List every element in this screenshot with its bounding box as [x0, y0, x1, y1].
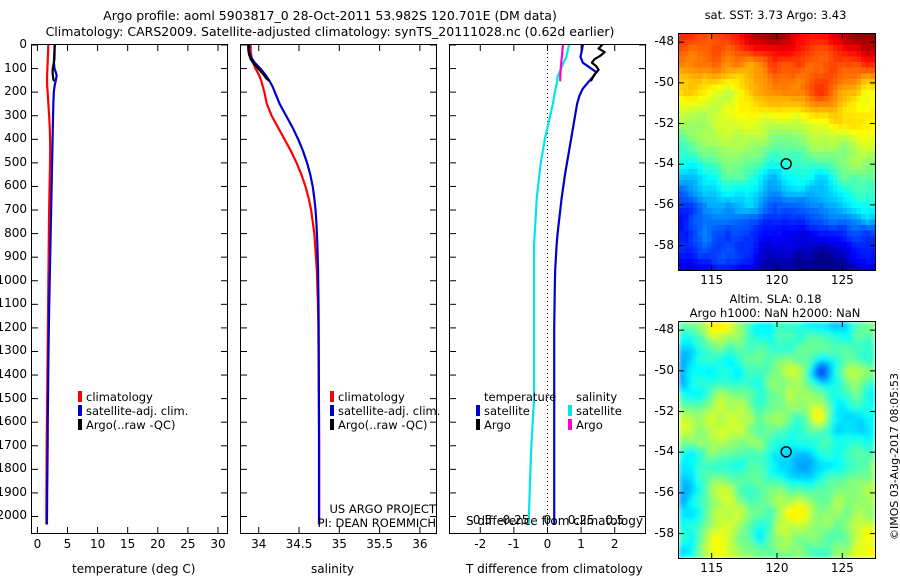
legend-item-s-satellite: satellite	[568, 404, 622, 418]
sla-map-panel[interactable]	[678, 321, 876, 559]
project-credit: US ARGO PROJECT PI: DEAN ROEMMICH	[246, 502, 436, 530]
legend-swatch-s-argo	[568, 419, 572, 430]
axis-tick-label: 115	[700, 561, 723, 575]
axis-tick-label: -48	[654, 322, 674, 336]
salinity-legend: climatology satellite-adj. clim. Argo(..…	[330, 390, 440, 432]
legend-label-s-satellite: satellite	[576, 404, 622, 418]
legend-swatch-t-satellite	[476, 405, 480, 416]
axis-tick-label: -0.5	[469, 513, 492, 527]
axis-tick-label: 0.5	[605, 513, 624, 527]
legend-item-s-argo: Argo	[568, 418, 622, 432]
legend-item-climatology: climatology	[78, 390, 188, 404]
sst-map-panel[interactable]	[678, 33, 876, 271]
axis-tick-label: -58	[654, 526, 674, 540]
axis-tick-label: -54	[654, 156, 674, 170]
axis-tick-label: -2	[474, 537, 486, 551]
legend-label-t-satellite: satellite	[484, 404, 530, 418]
legend-item-argo: Argo(..raw -QC)	[78, 418, 188, 432]
axis-tick-label: 1300	[0, 343, 27, 357]
axis-tick-label: 400	[4, 131, 27, 145]
axis-tick-label: 15	[120, 537, 135, 551]
axis-tick-label: 120	[766, 273, 789, 287]
axis-tick-label: 2	[611, 537, 619, 551]
axis-tick-label: -52	[654, 404, 674, 418]
axis-tick-label: 1200	[0, 320, 27, 334]
legend-swatch-climatology-salinity	[330, 391, 334, 402]
axis-tick-label: 34	[251, 537, 266, 551]
axis-tick-label: 1	[577, 537, 585, 551]
difference-legend-temperature: temperature satellite Argo	[476, 390, 556, 432]
axis-tick-label: 34.5	[286, 537, 313, 551]
axis-tick-label: 700	[4, 202, 27, 216]
axis-tick-label: 20	[150, 537, 165, 551]
sst-map-title: sat. SST: 3.73 Argo: 3.43	[668, 8, 883, 22]
legend-label-climatology: climatology	[86, 390, 153, 404]
temperature-legend: climatology satellite-adj. clim. Argo(..…	[78, 390, 188, 432]
legend-heading-temperature: temperature	[484, 390, 556, 404]
axis-tick-label: 36	[412, 537, 427, 551]
legend-item-t-satellite: satellite	[476, 404, 556, 418]
axis-tick-label: 0	[34, 537, 42, 551]
legend-item-satellite-adj-salinity: satellite-adj. clim.	[330, 404, 440, 418]
project-credit-line-1: US ARGO PROJECT	[246, 502, 436, 516]
axis-tick-label: 1000	[0, 273, 27, 287]
sla-map-image[interactable]	[679, 322, 875, 558]
axis-tick-label: 5	[64, 537, 72, 551]
legend-item-t-argo: Argo	[476, 418, 556, 432]
legend-item-climatology-salinity: climatology	[330, 390, 440, 404]
axis-tick-label: 115	[700, 273, 723, 287]
legend-label-s-argo: Argo	[576, 418, 603, 432]
axis-tick-label: 1700	[0, 438, 27, 452]
axis-tick-label: 800	[4, 226, 27, 240]
legend-label-satellite-adj-salinity: satellite-adj. clim.	[338, 404, 440, 418]
axis-tick-label: -58	[654, 238, 674, 252]
axis-tick-label: 1900	[0, 485, 27, 499]
axis-tick-label: 0.25	[568, 513, 595, 527]
axis-tick-label: -56	[654, 197, 674, 211]
legend-swatch-argo	[78, 419, 82, 430]
legend-item-argo-salinity: Argo(..raw -QC)	[330, 418, 440, 432]
axis-tick-label: 1800	[0, 461, 27, 475]
axis-tick-label: 900	[4, 249, 27, 263]
axis-tick-label: -54	[654, 444, 674, 458]
legend-swatch-s-satellite	[568, 405, 572, 416]
axis-tick-label: 0	[19, 37, 27, 51]
axis-tick-label: 125	[831, 561, 854, 575]
legend-label-satellite-adj: satellite-adj. clim.	[86, 404, 188, 418]
legend-swatch-satellite-adj-salinity	[330, 405, 334, 416]
axis-tick-label: 1400	[0, 367, 27, 381]
axis-tick-label: 1500	[0, 391, 27, 405]
axis-tick-label: -52	[654, 116, 674, 130]
sla-map-title-line-2: Argo h1000: NaN h2000: NaN	[660, 306, 890, 320]
axis-tick-label: 1600	[0, 414, 27, 428]
sst-map-image[interactable]	[679, 34, 875, 270]
axis-tick-label: -56	[654, 485, 674, 499]
axis-tick-label: 2000	[0, 508, 27, 522]
difference-legend-salinity: salinity satellite Argo	[568, 390, 622, 432]
legend-heading-salinity: salinity	[576, 390, 622, 404]
axis-tick-label: -48	[654, 34, 674, 48]
axis-tick-label: -0.25	[498, 513, 529, 527]
axis-tick-label: 0	[544, 537, 552, 551]
project-credit-line-2: PI: DEAN ROEMMICH	[246, 516, 436, 530]
legend-label-argo-salinity: Argo(..raw -QC)	[338, 418, 428, 432]
axis-tick-label: -50	[654, 75, 674, 89]
legend-label-argo: Argo(..raw -QC)	[86, 418, 176, 432]
axis-tick-label: 35	[332, 537, 347, 551]
legend-item-satellite-adj: satellite-adj. clim.	[78, 404, 188, 418]
axis-tick-label: 600	[4, 178, 27, 192]
axis-tick-label: -50	[654, 363, 674, 377]
sla-map-title-line-1: Altim. SLA: 0.18	[668, 292, 883, 306]
axis-tick-label: 1100	[0, 296, 27, 310]
legend-label-climatology-salinity: climatology	[338, 390, 405, 404]
legend-swatch-argo-salinity	[330, 419, 334, 430]
axis-tick-label: 500	[4, 155, 27, 169]
legend-swatch-climatology	[78, 391, 82, 402]
axis-tick-label: 125	[831, 273, 854, 287]
legend-label-t-argo: Argo	[484, 418, 511, 432]
axis-tick-label: 0	[544, 513, 552, 527]
axis-tick-label: 30	[210, 537, 225, 551]
axis-tick-label: -1	[508, 537, 520, 551]
axis-tick-label: 35.5	[366, 537, 393, 551]
legend-swatch-satellite-adj	[78, 405, 82, 416]
axis-tick-label: 100	[4, 61, 27, 75]
axis-tick-label: 200	[4, 84, 27, 98]
legend-swatch-t-argo	[476, 419, 480, 430]
axis-tick-label: 120	[766, 561, 789, 575]
axis-tick-label: 300	[4, 108, 27, 122]
axis-tick-label: 10	[90, 537, 105, 551]
axis-tick-label: 25	[180, 537, 195, 551]
